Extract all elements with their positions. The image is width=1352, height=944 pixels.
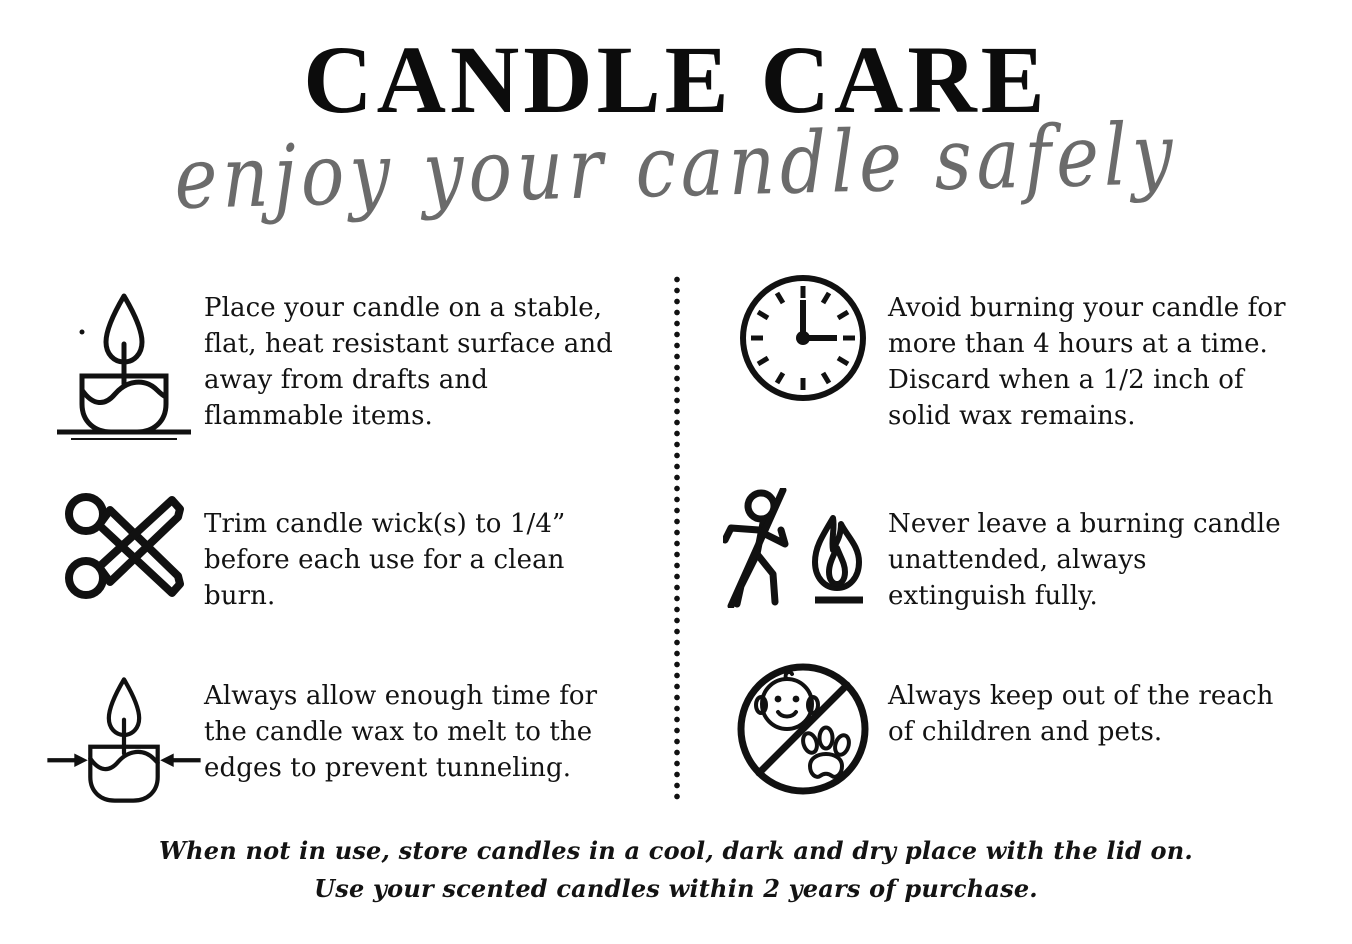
tip-text: Avoid burning your candle for more than … [888, 272, 1288, 434]
clock-icon [718, 272, 888, 404]
candle-on-surface-icon [44, 272, 204, 440]
candle-care-infographic: CANDLE CARE enjoy your candle safely [0, 0, 1352, 944]
tip-text: Trim candle wick(s) to 1/4” before each … [204, 488, 624, 614]
tip-item: Always keep out of the reach of children… [718, 660, 1352, 804]
tips-column-right: Avoid burning your candle for more than … [676, 272, 1352, 804]
tip-item: Trim candle wick(s) to 1/4” before each … [44, 488, 676, 660]
tip-item: Always allow enough time for the candle … [44, 660, 676, 804]
tip-text: Never leave a burning candle unattended,… [888, 488, 1288, 614]
tip-text: Always allow enough time for the candle … [204, 660, 624, 786]
candle-melt-edges-icon [44, 660, 204, 820]
scissors-icon [44, 488, 204, 606]
footer-line-1: When not in use, store candles in a cool… [0, 832, 1352, 870]
tips-grid: Place your candle on a stable, flat, hea… [0, 272, 1352, 804]
person-leaving-flame-icon [718, 488, 888, 608]
tip-item: Place your candle on a stable, flat, hea… [44, 272, 676, 488]
no-children-pets-icon [718, 660, 888, 798]
tip-item: Avoid burning your candle for more than … [718, 272, 1352, 488]
header: CANDLE CARE enjoy your candle safely [0, 30, 1352, 208]
tip-text: Always keep out of the reach of children… [888, 660, 1288, 750]
footer-note: When not in use, store candles in a cool… [0, 832, 1352, 908]
footer-line-2: Use your scented candles within 2 years … [0, 870, 1352, 908]
tip-item: Never leave a burning candle unattended,… [718, 488, 1352, 660]
tip-text: Place your candle on a stable, flat, hea… [204, 272, 624, 434]
tips-column-left: Place your candle on a stable, flat, hea… [0, 272, 676, 804]
